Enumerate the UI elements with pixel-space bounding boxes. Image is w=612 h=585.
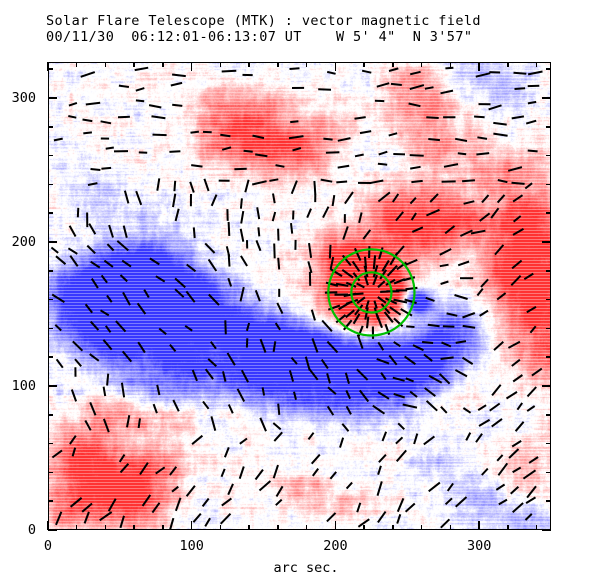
x-tick-bottom — [536, 525, 538, 530]
y-tick-left — [48, 356, 53, 358]
y-tick-right — [546, 328, 551, 330]
y-tick-right — [546, 184, 551, 186]
x-tick-label: 100 — [180, 538, 204, 554]
y-tick-right — [542, 529, 551, 531]
x-tick-top — [133, 62, 135, 67]
y-tick-left — [48, 184, 53, 186]
y-tick-left — [48, 270, 53, 272]
x-tick-bottom — [306, 525, 308, 530]
x-tick-bottom — [363, 525, 365, 530]
magnetogram-plot-area — [48, 62, 551, 530]
x-tick-top — [478, 62, 480, 71]
sunspot-umbra-circle — [351, 272, 391, 312]
y-tick-left — [48, 299, 53, 301]
y-tick-left — [48, 241, 57, 243]
sunspot-penumbra-circle — [328, 249, 414, 335]
y-tick-left — [48, 68, 53, 70]
x-tick-bottom — [162, 525, 164, 530]
x-tick-top — [507, 62, 509, 67]
x-tick-bottom — [392, 525, 394, 530]
y-tick-right — [546, 414, 551, 416]
y-tick-left — [48, 126, 53, 128]
x-tick-bottom — [507, 525, 509, 530]
y-tick-right — [546, 212, 551, 214]
y-tick-label: 300 — [0, 90, 36, 106]
x-tick-label: 300 — [467, 538, 491, 554]
y-tick-right — [546, 270, 551, 272]
y-tick-right — [546, 443, 551, 445]
x-tick-top — [335, 62, 337, 71]
x-tick-top — [363, 62, 365, 67]
y-tick-left — [48, 472, 53, 474]
x-tick-top — [536, 62, 538, 67]
x-tick-bottom — [76, 525, 78, 530]
x-tick-top — [421, 62, 423, 67]
x-tick-bottom — [277, 525, 279, 530]
y-tick-right — [546, 356, 551, 358]
x-tick-top — [248, 62, 250, 67]
y-tick-right — [546, 126, 551, 128]
y-tick-label: 100 — [0, 378, 36, 394]
x-tick-bottom — [421, 525, 423, 530]
y-tick-left — [48, 500, 53, 502]
x-tick-bottom — [191, 521, 193, 530]
x-tick-top — [191, 62, 193, 71]
x-tick-bottom — [220, 525, 222, 530]
y-tick-right — [546, 472, 551, 474]
magnetogram-figure: Solar Flare Telescope (MTK) : vector mag… — [0, 0, 612, 585]
x-tick-top — [76, 62, 78, 67]
x-tick-top — [306, 62, 308, 67]
figure-title-line-1: Solar Flare Telescope (MTK) : vector mag… — [46, 14, 586, 30]
x-tick-label: 0 — [44, 538, 52, 554]
x-tick-top — [220, 62, 222, 67]
y-tick-left — [48, 155, 53, 157]
y-tick-left — [48, 443, 53, 445]
y-tick-left — [48, 328, 53, 330]
x-tick-top — [450, 62, 452, 67]
y-tick-left — [48, 529, 57, 531]
x-tick-top — [277, 62, 279, 67]
y-tick-right — [542, 97, 551, 99]
y-tick-right — [546, 500, 551, 502]
sunspot-circle-marker — [48, 62, 551, 530]
y-tick-left — [48, 97, 57, 99]
y-tick-right — [542, 241, 551, 243]
x-tick-bottom — [133, 525, 135, 530]
x-tick-top — [392, 62, 394, 67]
figure-title-line-2: 00/11/30 06:12:01-06:13:07 UT W 5' 4" N … — [46, 30, 586, 46]
x-tick-bottom — [450, 525, 452, 530]
figure-title-block: Solar Flare Telescope (MTK) : vector mag… — [46, 14, 586, 45]
x-tick-bottom — [478, 521, 480, 530]
x-tick-label: 200 — [323, 538, 347, 554]
y-tick-right — [546, 68, 551, 70]
y-tick-right — [546, 155, 551, 157]
y-tick-label: 0 — [0, 522, 36, 538]
y-tick-right — [546, 299, 551, 301]
y-tick-right — [542, 385, 551, 387]
x-tick-bottom — [335, 521, 337, 530]
y-tick-left — [48, 212, 53, 214]
x-tick-top — [162, 62, 164, 67]
y-tick-left — [48, 385, 57, 387]
y-tick-left — [48, 414, 53, 416]
x-tick-bottom — [248, 525, 250, 530]
y-tick-label: 200 — [0, 234, 36, 250]
x-axis-title: arc sec. — [0, 560, 612, 576]
x-tick-top — [105, 62, 107, 67]
x-tick-bottom — [105, 525, 107, 530]
